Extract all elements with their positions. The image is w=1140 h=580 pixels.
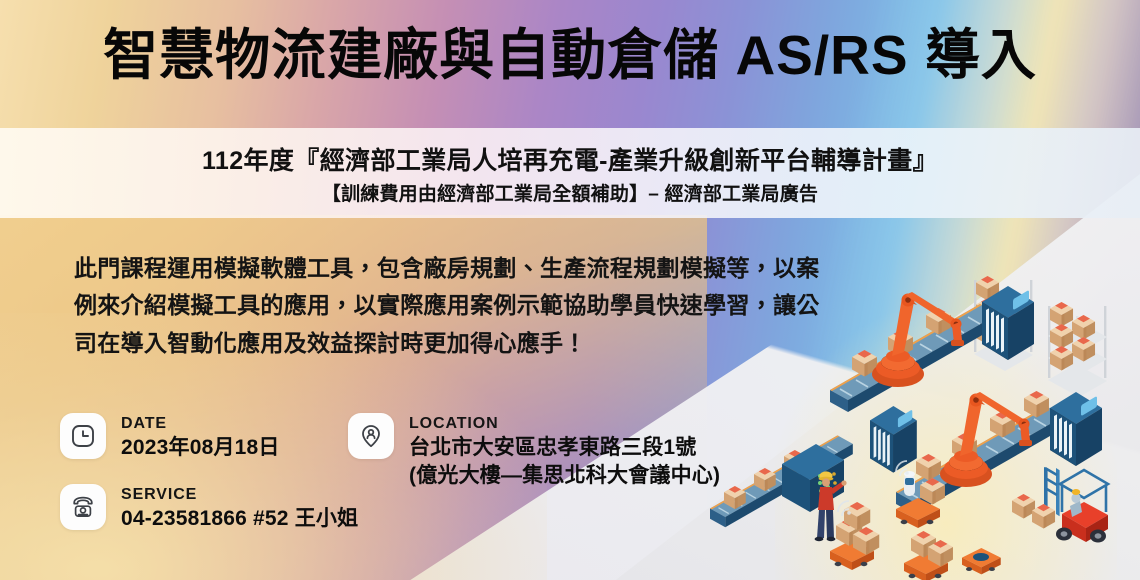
date-label: DATE [121, 415, 167, 432]
page-title: 智慧物流建廠與自動倉儲 AS/RS 導入 [0, 24, 1140, 87]
info-item-location: LOCATION 台北市大安區忠孝東路三段1號 (億光大樓—集思北科大會議中心) [348, 413, 720, 489]
clock-icon [60, 413, 106, 459]
info-column-right: LOCATION 台北市大安區忠孝東路三段1號 (億光大樓—集思北科大會議中心) [348, 413, 720, 489]
info-item-date: DATE 2023年08月18日 [60, 413, 358, 462]
description-line-1: 此門課程運用模擬軟體工具，包含廠房規劃、生產流程規劃模擬等，以案 [74, 250, 904, 287]
subtitle-line-1: 112年度『經濟部工業局人培再充電-產業升級創新平台輔導計畫』 [202, 141, 938, 177]
info-text-service: SERVICE 04-23581866 #52 王小姐 [121, 484, 358, 533]
info-text-location: LOCATION 台北市大安區忠孝東路三段1號 (億光大樓—集思北科大會議中心) [409, 413, 720, 489]
service-label: SERVICE [121, 486, 197, 503]
subtitle-line-2: 【訓練費用由經濟部工業局全額補助】– 經濟部工業局廣告 [322, 179, 818, 206]
service-value: 04-23581866 #52 王小姐 [121, 505, 358, 533]
location-label: LOCATION [409, 415, 499, 432]
description-line-3: 司在導入智動化應用及效益探討時更加得心應手！ [74, 325, 904, 362]
description-line-2: 例來介紹模擬工具的應用，以實際應用案例示範協助學員快速學習，讓公 [74, 287, 904, 324]
location-value-line-2: (億光大樓—集思北科大會議中心) [409, 462, 720, 490]
subtitle-band: 112年度『經濟部工業局人培再充電-產業升級創新平台輔導計畫』 【訓練費用由經濟… [0, 128, 1140, 218]
location-value-line-1: 台北市大安區忠孝東路三段1號 [409, 434, 720, 462]
info-column-left: DATE 2023年08月18日 SERVICE 04-23581866 #52… [60, 413, 358, 532]
course-description: 此門課程運用模擬軟體工具，包含廠房規劃、生產流程規劃模擬等，以案 例來介紹模擬工… [74, 250, 904, 362]
telephone-icon [60, 484, 106, 530]
info-item-service: SERVICE 04-23581866 #52 王小姐 [60, 484, 358, 533]
promo-banner: 智慧物流建廠與自動倉儲 AS/RS 導入 112年度『經濟部工業局人培再充電-產… [0, 0, 1140, 580]
date-value: 2023年08月18日 [121, 434, 280, 462]
info-text-date: DATE 2023年08月18日 [121, 413, 280, 462]
map-pin-person-icon [348, 413, 394, 459]
